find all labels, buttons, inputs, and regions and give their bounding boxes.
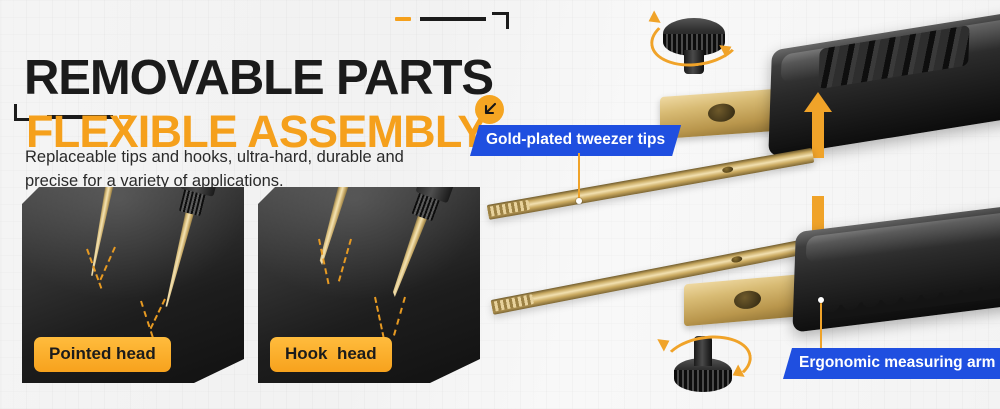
card-glow (22, 187, 244, 314)
arm-serrated-tip (491, 294, 534, 312)
callout-leader-bottom (820, 300, 822, 348)
rotation-arrow-top (647, 6, 746, 72)
handle-scallops (821, 284, 1000, 321)
arrow-stem (812, 110, 824, 158)
product-card-pointed[interactable]: Pointed head (22, 187, 244, 383)
product-exploded-view (470, 0, 1000, 409)
callout-leader-dot-bottom (818, 297, 824, 303)
handle-grip-ridges (818, 25, 969, 89)
card-glow (258, 187, 480, 314)
card-label-hook: Hook head (270, 337, 392, 372)
left-content-column: REMOVABLE PARTS FLEXIBLE ASSEMBLY Replac… (0, 0, 500, 409)
plate-screw-hole (734, 290, 761, 310)
arm-pin (731, 255, 743, 263)
deco-orange-dash-top (395, 17, 411, 21)
handle-highlight (805, 207, 1000, 264)
callout-leader-top (578, 153, 580, 201)
product-card-hook[interactable]: Hook head (258, 187, 480, 383)
arrow-head (804, 92, 832, 112)
arm-pin (722, 166, 734, 174)
card-label-pointed: Pointed head (34, 337, 171, 372)
arm-serrated-tip (487, 200, 530, 217)
headline-primary: REMOVABLE PARTS (24, 54, 493, 103)
rotation-arrow-bottom (659, 330, 755, 394)
callout-gold-plated-tips[interactable]: Gold-plated tweezer tips (470, 125, 681, 156)
product-banner: REMOVABLE PARTS FLEXIBLE ASSEMBLY Replac… (0, 0, 1000, 409)
arrow-down-left-icon (475, 95, 504, 124)
callout-ergonomic-arm[interactable]: Ergonomic measuring arm (783, 348, 1000, 379)
ergonomic-handle-top (768, 9, 1000, 157)
subcopy-text: Replaceable tips and hooks, ultra-hard, … (25, 145, 455, 193)
gold-tweezer-arm-upper (487, 148, 815, 220)
plate-screw-hole (708, 103, 735, 123)
callout-leader-dot-top (576, 198, 582, 204)
